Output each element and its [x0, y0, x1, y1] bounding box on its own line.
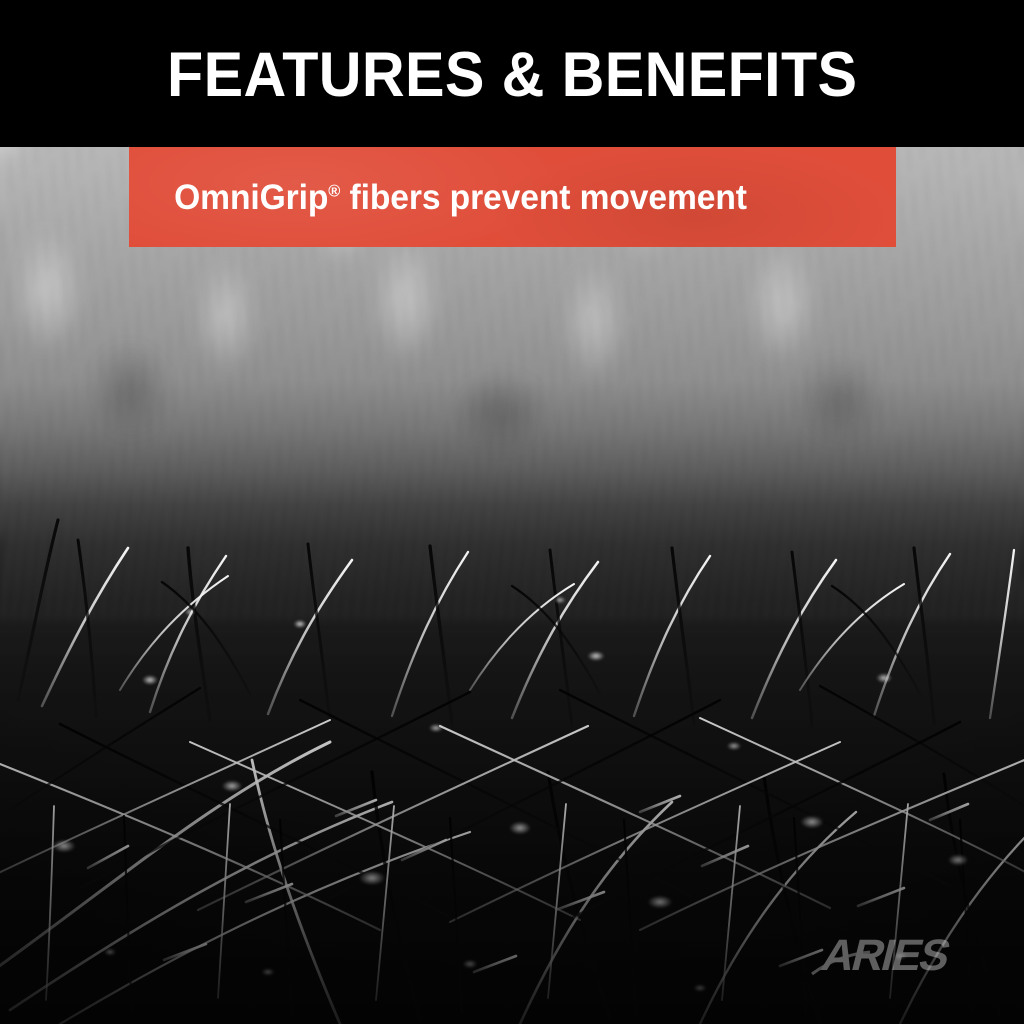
page-title: FEATURES & BENEFITS — [167, 40, 857, 107]
tagline-callout-bar: OmniGrip® fibers prevent movement — [129, 147, 896, 247]
tagline-text: OmniGrip® fibers prevent movement — [129, 180, 747, 215]
tagline-brand: OmniGrip — [174, 178, 328, 217]
header-banner: FEATURES & BENEFITS — [0, 0, 1024, 147]
registered-trademark-icon: ® — [328, 181, 340, 200]
product-feature-graphic: ARIES ARIES FEATURES & BENEFITS OmniGrip… — [0, 0, 1024, 1024]
tagline-suffix: fibers prevent movement — [340, 178, 747, 217]
